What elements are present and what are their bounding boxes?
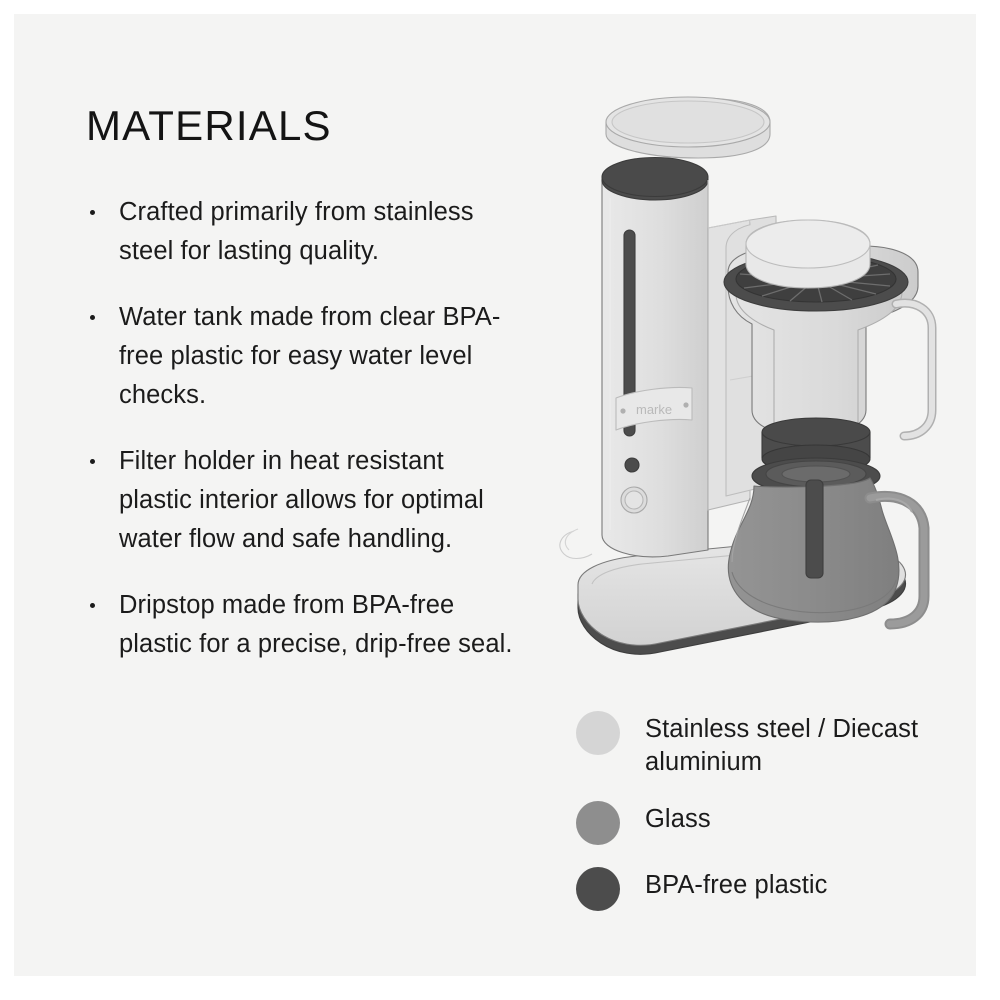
bullet-dot-icon: [90, 459, 95, 464]
power-cord: [560, 529, 592, 559]
list-item: Dripstop made from BPA-free plastic for …: [86, 586, 519, 664]
legend-item-bpa-free-plastic: BPA-free plastic: [576, 865, 956, 911]
brand-badge-text: marke: [636, 402, 672, 417]
legend-item-label: Glass: [645, 799, 711, 836]
list-item-label: Filter holder in heat resistant plastic …: [119, 447, 484, 553]
legend-item-glass: Glass: [576, 799, 956, 845]
coffee-maker-illustration: marke: [540, 80, 960, 660]
legend-item-label: BPA-free plastic: [645, 865, 828, 902]
list-item: Crafted primarily from stainless steel f…: [86, 193, 519, 271]
page-title: MATERIALS: [86, 105, 526, 147]
bullet-dot-icon: [90, 603, 95, 608]
stainless-steel-swatch: [576, 711, 620, 755]
glass-swatch: [576, 801, 620, 845]
materials-text-column: MATERIALS Crafted primarily from stainle…: [86, 105, 526, 664]
slide-root: MATERIALS Crafted primarily from stainle…: [0, 0, 1000, 1000]
filter-holder-lid: [746, 220, 870, 288]
filter-holder-handle: [896, 303, 932, 436]
water-tank: [602, 158, 708, 557]
materials-legend: Stainless steel / Diecast aluminium Glas…: [576, 709, 956, 911]
indicator-led-icon: [625, 458, 639, 472]
list-item-label: Water tank made from clear BPA-free plas…: [119, 303, 500, 409]
legend-item-label: Stainless steel / Diecast aluminium: [645, 709, 956, 779]
bpa-free-plastic-swatch: [576, 867, 620, 911]
tank-lid: [606, 97, 770, 158]
legend-item-stainless-steel: Stainless steel / Diecast aluminium: [576, 709, 956, 779]
bullet-dot-icon: [90, 210, 95, 215]
bullet-dot-icon: [90, 315, 95, 320]
list-item: Filter holder in heat resistant plastic …: [86, 442, 519, 559]
materials-bullet-list: Crafted primarily from stainless steel f…: [86, 193, 526, 664]
list-item-label: Dripstop made from BPA-free plastic for …: [119, 591, 513, 658]
list-item: Water tank made from clear BPA-free plas…: [86, 298, 519, 415]
list-item-label: Crafted primarily from stainless steel f…: [119, 198, 474, 265]
glass-carafe: [728, 478, 924, 624]
filter-holder: [724, 220, 932, 446]
